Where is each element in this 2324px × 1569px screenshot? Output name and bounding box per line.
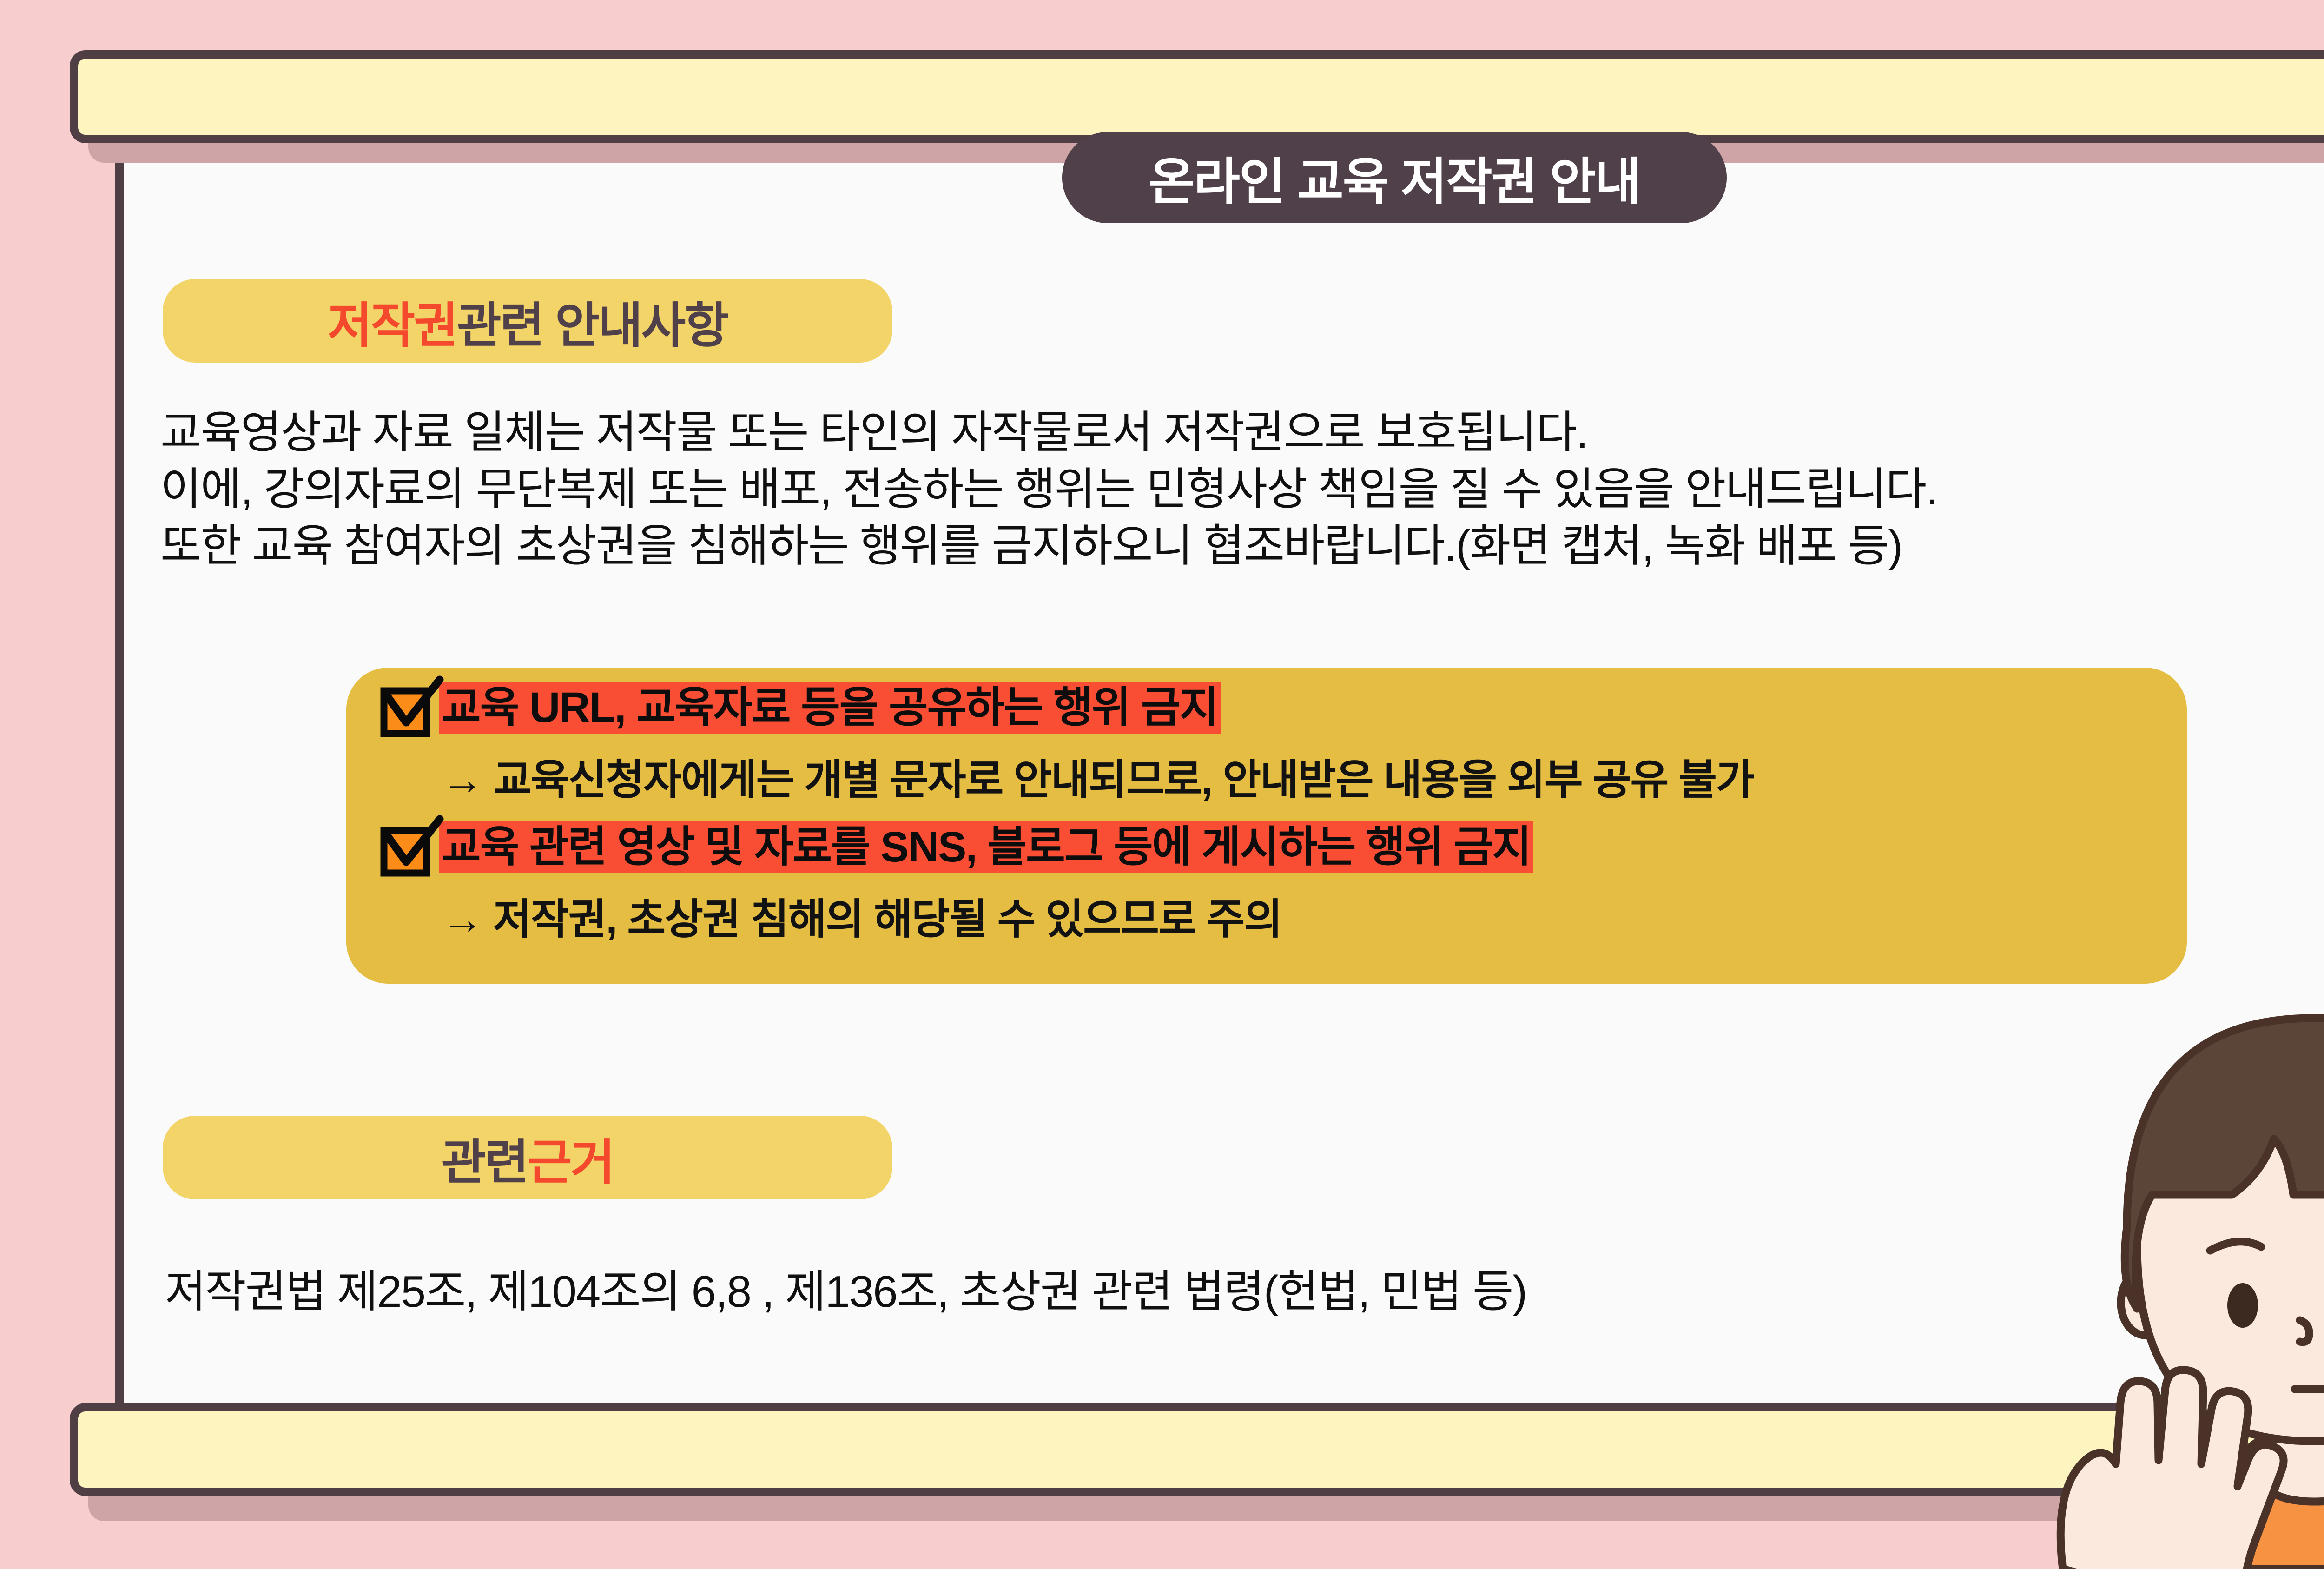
badge2-accent-text: 근거 [528,1123,614,1193]
legal-reference-text: 저작권법 제25조, 제104조의 6,8 , 제136조, 초상권 관련 법령… [165,1255,1526,1320]
checked-checkbox-icon [381,685,426,730]
prohibition-2-detail-text: → 저작권, 초상권 침해의 해당될 수 있으므로 주의 [442,895,1281,944]
page-title-text: 온라인 교육 저작권 안내 [1149,141,1640,214]
prohibition-detail-1: → 교육신청자에게는 개별 문자로 안내되므로, 안내받은 내용을 외부 공유 … [442,756,1754,804]
paragraph-line-2: 이에, 강의자료의 무단복제 또는 배포, 전송하는 행위는 민형사상 책임을 … [160,461,1937,518]
bottom-rail [70,1403,2324,1496]
prohibition-box: 교육 URL, 교육자료 등을 공유하는 행위 금지 → 교육신청자에게는 개별… [346,668,2187,984]
section-badge-copyright-notice: 저작권 관련 안내사항 [163,279,892,363]
boy-stop-gesture-illustration [2045,948,2324,1569]
checked-checkbox-icon [381,825,426,869]
badge1-accent-text: 저작권 [328,286,457,356]
poster-canvas: 온라인 교육 저작권 안내 저작권 관련 안내사항 교육영상과 자료 일체는 저… [0,0,2324,1569]
prohibition-2-text: 교육 관련 영상 및 자료를 SNS, 블로그 등에 게시하는 행위 금지 [439,821,1533,873]
paragraph-line-3: 또한 교육 참여자의 초상권을 침해하는 행위를 금지하오니 협조바랍니다.(화… [160,518,1937,575]
prohibition-detail-2: → 저작권, 초상권 침해의 해당될 수 있으므로 주의 [442,895,1281,944]
prohibition-1-text: 교육 URL, 교육자료 등을 공유하는 행위 금지 [439,682,1221,734]
section-badge-legal-basis: 관련 근거 [163,1116,892,1199]
paragraph-line-1: 교육영상과 자료 일체는 저작물 또는 타인의 자작물로서 저작권으로 보호됩니… [160,404,1937,461]
badge1-rest-text: 관련 안내사항 [457,286,727,356]
prohibition-item-2: 교육 관련 영상 및 자료를 SNS, 블로그 등에 게시하는 행위 금지 [381,821,1533,873]
prohibition-item-1: 교육 URL, 교육자료 등을 공유하는 행위 금지 [381,682,1221,734]
page-title: 온라인 교육 저작권 안내 [1062,132,1727,223]
notice-paragraph: 교육영상과 자료 일체는 저작물 또는 타인의 자작물로서 저작권으로 보호됩니… [160,404,1937,575]
prohibition-1-detail-text: → 교육신청자에게는 개별 문자로 안내되므로, 안내받은 내용을 외부 공유 … [442,756,1754,804]
badge2-rest-text: 관련 [442,1123,528,1193]
top-rail [70,50,2324,143]
